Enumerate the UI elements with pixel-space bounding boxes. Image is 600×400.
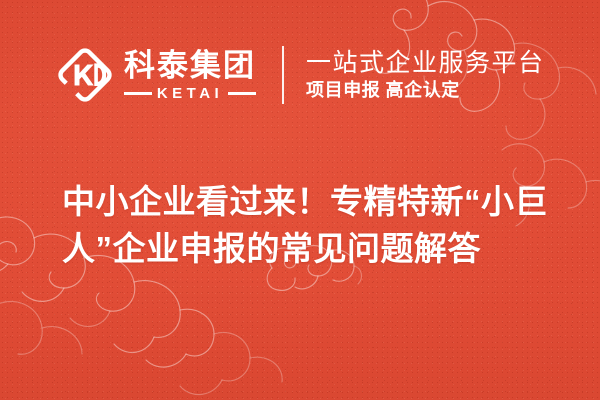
vertical-divider — [282, 46, 284, 104]
brand-lockup: 科泰集团 KETAI — [56, 46, 256, 104]
wordmark-rule-left — [124, 92, 152, 95]
ketai-logo-icon — [56, 46, 114, 104]
cloud-motif-left-edge-icon — [0, 266, 130, 396]
brand-name-en-row: KETAI — [124, 86, 256, 101]
banner-header: 科泰集团 KETAI 一站式企业服务平台 项目申报 高企认定 — [0, 38, 600, 112]
wordmark-rule-right — [228, 92, 256, 95]
tagline-block: 一站式企业服务平台 项目申报 高企认定 — [306, 50, 545, 100]
promo-banner: 科泰集团 KETAI 一站式企业服务平台 项目申报 高企认定 中小企业看过来！专… — [0, 0, 600, 400]
tagline-main: 一站式企业服务平台 — [306, 50, 545, 76]
brand-wordmark: 科泰集团 KETAI — [124, 50, 256, 101]
brand-name-cn: 科泰集团 — [124, 50, 256, 82]
tagline-sub: 项目申报 高企认定 — [306, 81, 545, 100]
page-title: 中小企业看过来！专精特新“小巨人”企业申报的常见问题解答 — [62, 179, 558, 273]
brand-name-en: KETAI — [157, 86, 223, 101]
